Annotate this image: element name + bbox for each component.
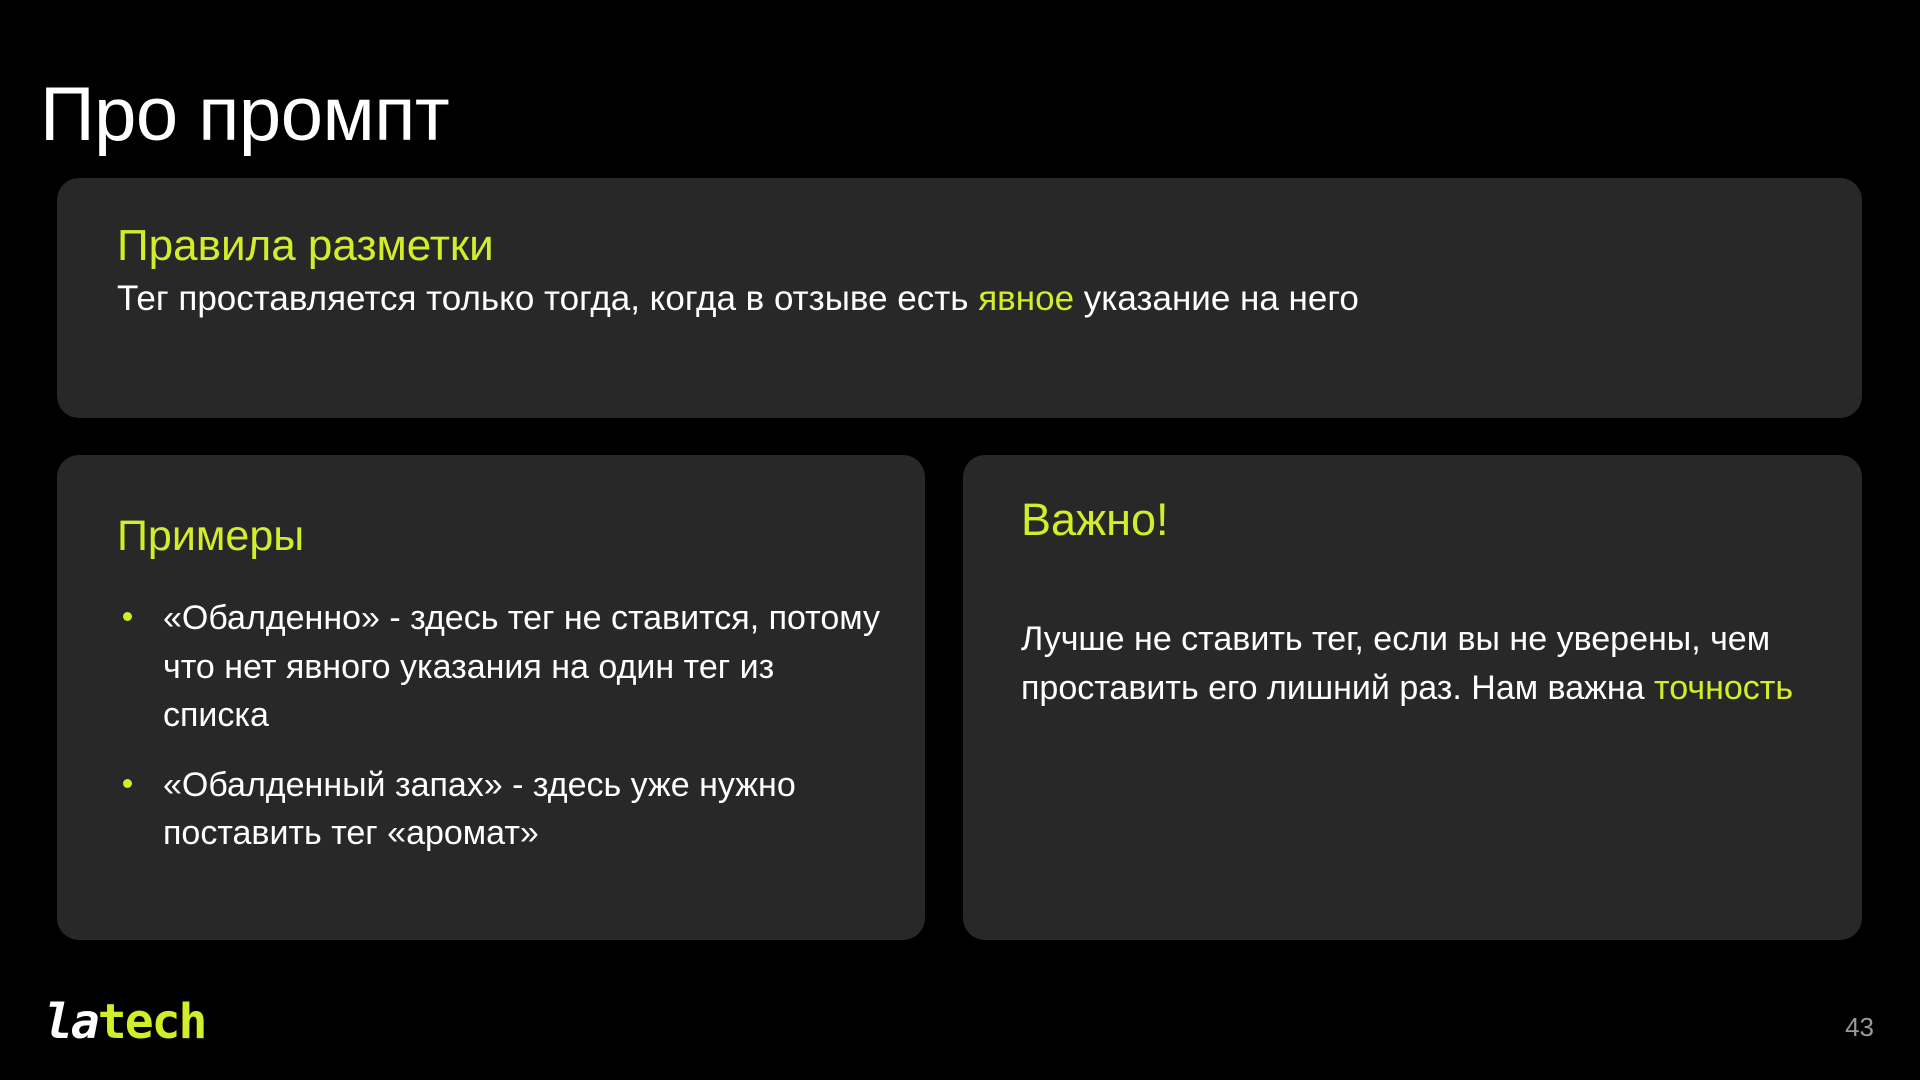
card-rules-body: Тег проставляется только тогда, когда в … bbox=[117, 276, 1814, 322]
list-item-label: «Обалденный запах» - здесь уже нужно пос… bbox=[163, 766, 796, 852]
card-rules-body-before: Тег проставляется только тогда, когда в … bbox=[117, 279, 978, 318]
card-important-heading: Важно! bbox=[1021, 495, 1816, 545]
card-rules-heading: Правила разметки bbox=[117, 222, 1814, 270]
page-title: Про промпт bbox=[40, 71, 449, 158]
card-examples-heading: Примеры bbox=[117, 513, 885, 560]
card-rules-body-after: указание на него bbox=[1074, 279, 1359, 318]
latech-logo: latech bbox=[44, 998, 205, 1046]
logo-text-la: la bbox=[44, 998, 98, 1046]
list-item: «Обалденный запах» - здесь уже нужно пос… bbox=[117, 761, 885, 858]
list-item-label: «Обалденно» - здесь тег не ставится, пот… bbox=[163, 599, 880, 734]
card-important-body: Лучше не ставить тег, если вы не уверены… bbox=[1021, 615, 1816, 714]
card-rules: Правила разметки Тег проставляется тольк… bbox=[57, 178, 1862, 418]
bullet-icon bbox=[123, 612, 132, 621]
card-rules-body-accent: явное bbox=[978, 279, 1074, 318]
slide: Про промпт Правила разметки Тег проставл… bbox=[0, 0, 1920, 1080]
card-important-body-accent: точность bbox=[1654, 669, 1793, 707]
card-important: Важно! Лучше не ставить тег, если вы не … bbox=[963, 455, 1862, 940]
list-item: «Обалденно» - здесь тег не ставится, пот… bbox=[117, 594, 885, 739]
card-examples-list: «Обалденно» - здесь тег не ставится, пот… bbox=[117, 594, 885, 857]
page-number: 43 bbox=[1845, 1012, 1874, 1043]
logo-text-tech: tech bbox=[98, 998, 206, 1046]
bullet-icon bbox=[123, 779, 132, 788]
card-examples: Примеры «Обалденно» - здесь тег не стави… bbox=[57, 455, 925, 940]
